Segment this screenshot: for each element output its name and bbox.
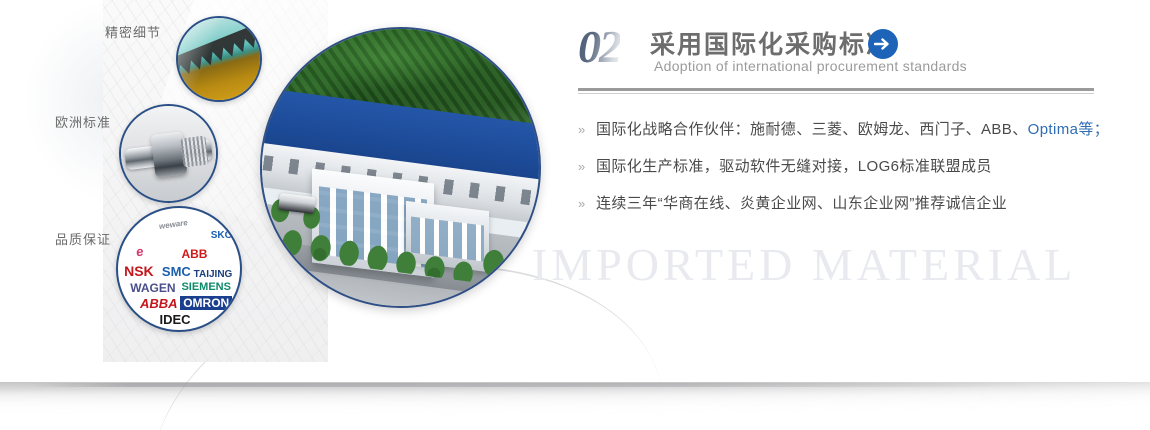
bullet-text-plain: 国际化生产标准，驱动软件无缝对接，LOG6标准联盟成员	[596, 158, 992, 175]
brand-logo: TAIJING	[194, 270, 233, 280]
divider-thin-line	[578, 93, 1094, 94]
bullet-item: »国际化生产标准，驱动软件无缝对接，LOG6标准联盟成员	[578, 157, 1094, 177]
content-column: 02 采用国际化采购标准 Adoption of international p…	[578, 22, 1094, 231]
bullet-marker-icon: »	[578, 120, 596, 140]
watermark-text: IMPORTED MATERIAL	[532, 238, 1076, 291]
label-european-standard: 欧洲标准	[55, 112, 111, 131]
circle-factory-aerial	[260, 27, 541, 308]
circle-quality-assurance: wewareSKOeABBNSKSMCTAIJINGWAGENSIEMENSAB…	[116, 206, 242, 332]
bullet-text: 国际化生产标准，驱动软件无缝对接，LOG6标准联盟成员	[596, 157, 992, 177]
circle-precision-detail	[176, 16, 262, 102]
arrow-right-icon[interactable]	[868, 29, 898, 59]
bullet-text-plain: 国际化战略合作伙伴：施耐德、三菱、欧姆龙、西门子、ABB、	[596, 121, 1028, 138]
section-number: 02	[578, 24, 620, 70]
page-subtitle: Adoption of international procurement st…	[654, 58, 967, 74]
brand-logo: ABB	[181, 248, 207, 260]
bullet-text: 连续三年“华商在线、炎黄企业网、山东企业网”推荐诚信企业	[596, 194, 1007, 214]
screw-thread	[180, 136, 208, 167]
brand-logo: OMRON	[180, 296, 232, 310]
page-root: 精密细节 欧洲标准 品质保证 wewareSKOeABBNSKSMCTAIJIN…	[0, 0, 1150, 430]
bullet-item: »国际化战略合作伙伴：施耐德、三菱、欧姆龙、西门子、ABB、Optima等；	[578, 120, 1094, 140]
bullet-text-plain: 连续三年“华商在线、炎黄企业网、山东企业网”推荐诚信企业	[596, 195, 1007, 212]
ball-screw-image	[121, 106, 216, 201]
brand-logo: ABBA	[140, 297, 178, 310]
label-precision-detail: 精密细节	[105, 22, 161, 41]
brand-logo-cloud: wewareSKOeABBNSKSMCTAIJINGWAGENSIEMENSAB…	[118, 208, 240, 330]
brand-logo: SIEMENS	[181, 282, 231, 293]
header-divider	[578, 88, 1094, 96]
brand-logo: NSK	[124, 264, 154, 278]
section-header: 02 采用国际化采购标准 Adoption of international p…	[578, 22, 1094, 84]
bottom-shadow-band	[0, 382, 1150, 430]
brand-logo: SKO	[211, 231, 233, 241]
bullet-text: 国际化战略合作伙伴：施耐德、三菱、欧姆龙、西门子、ABB、Optima等；	[596, 120, 1109, 140]
gear-teeth-image	[178, 18, 260, 100]
divider-thick-line	[578, 88, 1094, 91]
bullet-list: »国际化战略合作伙伴：施耐德、三菱、欧姆龙、西门子、ABB、Optima等；»国…	[578, 120, 1094, 214]
page-title: 采用国际化采购标准	[650, 25, 893, 61]
bullet-text-highlight: Optima等；	[1028, 121, 1110, 138]
bullet-item: »连续三年“华商在线、炎黄企业网、山东企业网”推荐诚信企业	[578, 194, 1094, 214]
brand-logo: WAGEN	[130, 282, 175, 294]
brand-logo: IDEC	[159, 313, 190, 326]
circle-european-standard	[119, 104, 218, 203]
brand-logo: e	[135, 244, 144, 258]
bullet-marker-icon: »	[578, 157, 596, 177]
brand-logo: weware	[159, 219, 189, 231]
bullet-marker-icon: »	[578, 194, 596, 214]
label-quality-assurance: 品质保证	[55, 229, 111, 248]
brand-logo: SMC	[162, 265, 191, 278]
